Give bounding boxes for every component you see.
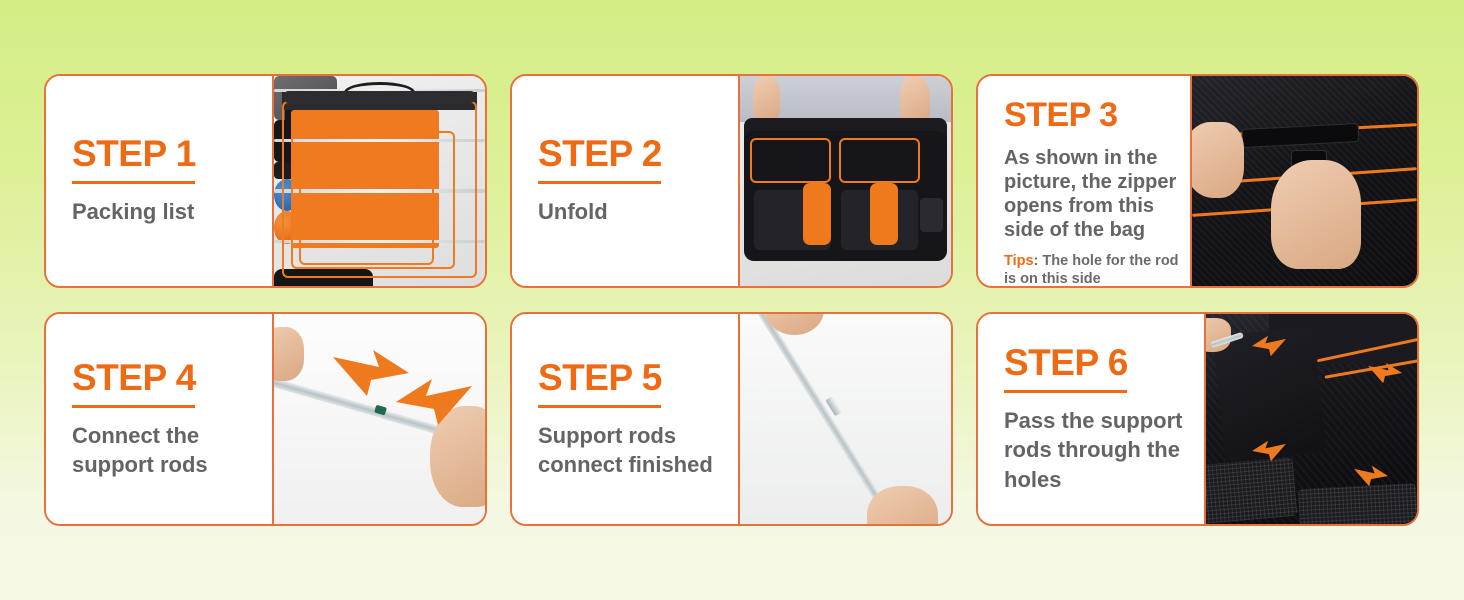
tips-label: Tips — [1004, 253, 1034, 269]
step-card-2: STEP 2 Unfold — [510, 74, 953, 288]
mesh-panel-left — [1206, 457, 1297, 524]
step-1-title: STEP 1 — [72, 135, 272, 172]
packing-list-photo — [274, 76, 485, 286]
step-3-tips: Tips: The hole for the rod is on this si… — [1004, 252, 1190, 288]
steps-grid: STEP 1 Packing list — [44, 74, 1420, 526]
bag-body-panel — [744, 131, 947, 261]
left-hand — [1192, 122, 1244, 198]
main-bag-item — [274, 269, 373, 286]
step-card-4: STEP 4 Connect the support rods — [44, 312, 487, 526]
rods-connected-photo — [740, 314, 951, 524]
step-5-image-pane — [740, 314, 951, 524]
step-6-description: Pass the support rods through the holes — [1004, 406, 1190, 493]
step-card-3: STEP 3 As shown in the picture, the zipp… — [976, 74, 1419, 288]
rods-through-holes-photo — [1206, 314, 1417, 524]
step-6-text-pane: STEP 6 Pass the support rods through the… — [978, 314, 1206, 524]
step-2-image-pane — [740, 76, 951, 286]
step-card-1: STEP 1 Packing list — [44, 74, 487, 288]
orange-arrow-2 — [1368, 362, 1402, 384]
step-4-text-pane: STEP 4 Connect the support rods — [46, 314, 274, 524]
step-3-description: As shown in the picture, the zipper open… — [1004, 146, 1190, 242]
step-card-5: STEP 5 Support rods connect finished — [510, 312, 953, 526]
right-hand — [1271, 160, 1361, 269]
instruction-sheet: STEP 1 Packing list — [0, 0, 1464, 600]
step-1-text-pane: STEP 1 Packing list — [46, 76, 274, 286]
step-6-image-pane — [1206, 314, 1417, 524]
step-3-title: STEP 3 — [1004, 98, 1190, 132]
step-1-rule — [72, 181, 195, 184]
step-5-rule — [538, 405, 661, 408]
step-2-title: STEP 2 — [538, 135, 738, 172]
step-3-text-pane: STEP 3 As shown in the picture, the zipp… — [978, 76, 1192, 286]
step-2-rule — [538, 181, 661, 184]
step-3-image-pane — [1192, 76, 1417, 286]
step-card-6: STEP 6 Pass the support rods through the… — [976, 312, 1419, 526]
step-5-text-pane: STEP 5 Support rods connect finished — [512, 314, 740, 524]
step-4-image-pane — [274, 314, 485, 524]
unfold-bag-photo — [740, 76, 951, 286]
left-hand — [1206, 318, 1231, 352]
step-5-description: Support rods connect finished — [538, 421, 724, 479]
step-5-title: STEP 5 — [538, 359, 738, 396]
zipper-open-photo — [1192, 76, 1417, 286]
step-4-description: Connect the support rods — [72, 421, 258, 479]
left-hand — [274, 327, 304, 382]
connect-rods-photo — [274, 314, 485, 524]
step-2-text-pane: STEP 2 Unfold — [512, 76, 740, 286]
step-6-rule — [1004, 390, 1127, 393]
orange-arrow-1 — [1252, 335, 1286, 357]
assembled-rod — [754, 314, 892, 518]
mesh-panel-bottom — [1298, 483, 1417, 524]
orange-arrow-3 — [1252, 440, 1286, 462]
step-2-description: Unfold — [538, 197, 724, 226]
orange-arrow-4 — [1354, 465, 1388, 487]
step-4-title: STEP 4 — [72, 359, 272, 396]
left-hand — [753, 76, 780, 122]
step-1-description: Packing list — [72, 197, 258, 226]
orange-arrow-left — [396, 379, 472, 425]
step-4-rule — [72, 405, 195, 408]
step-6-title: STEP 6 — [1004, 344, 1204, 381]
bottom-hand — [867, 486, 939, 524]
step-1-image-pane — [274, 76, 485, 286]
